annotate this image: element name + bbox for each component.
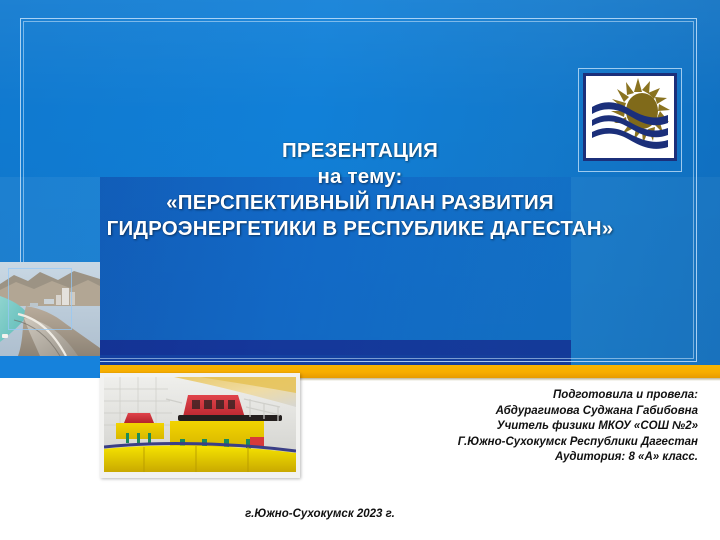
accent-band-shadow bbox=[300, 378, 720, 381]
slide-footer: г.Южно-Сухокумск 2023 г. bbox=[0, 508, 720, 520]
title-line-3: «ПЕРСПЕКТИВНЫЙ ПЛАН РАЗВИТИЯ bbox=[0, 190, 720, 216]
author-line-2: Абдурагимова Суджана Габибовна bbox=[278, 404, 698, 420]
title-line-2: на тему: bbox=[0, 164, 720, 190]
decorative-strip-left bbox=[0, 356, 100, 378]
title-line-4: ГИДРОЭНЕРГЕТИКИ В РЕСПУБЛИКЕ ДАГЕСТАН» bbox=[0, 216, 720, 242]
turbine-hall-image bbox=[104, 377, 296, 472]
dam-photo-grid-overlay bbox=[8, 268, 72, 330]
turbine-photo bbox=[100, 373, 300, 478]
slide-title: ПРЕЗЕНТАЦИЯ на тему: «ПЕРСПЕКТИВНЫЙ ПЛАН… bbox=[0, 138, 720, 242]
author-line-1: Подготовила и провела: bbox=[278, 388, 698, 404]
presentation-slide: ПРЕЗЕНТАЦИЯ на тему: «ПЕРСПЕКТИВНЫЙ ПЛАН… bbox=[0, 0, 720, 540]
author-line-3: Учитель физики МКОУ «СОШ №2» bbox=[278, 419, 698, 435]
author-line-4: Г.Южно-Сухокумск Республики Дагестан bbox=[278, 435, 698, 451]
title-line-1: ПРЕЗЕНТАЦИЯ bbox=[0, 138, 720, 164]
author-info: Подготовила и провела: Абдурагимова Судж… bbox=[278, 388, 698, 466]
dam-photo bbox=[0, 262, 100, 356]
author-line-5: Аудитория: 8 «А» класс. bbox=[278, 450, 698, 466]
footer-text: г.Южно-Сухокумск 2023 г. bbox=[245, 508, 395, 520]
